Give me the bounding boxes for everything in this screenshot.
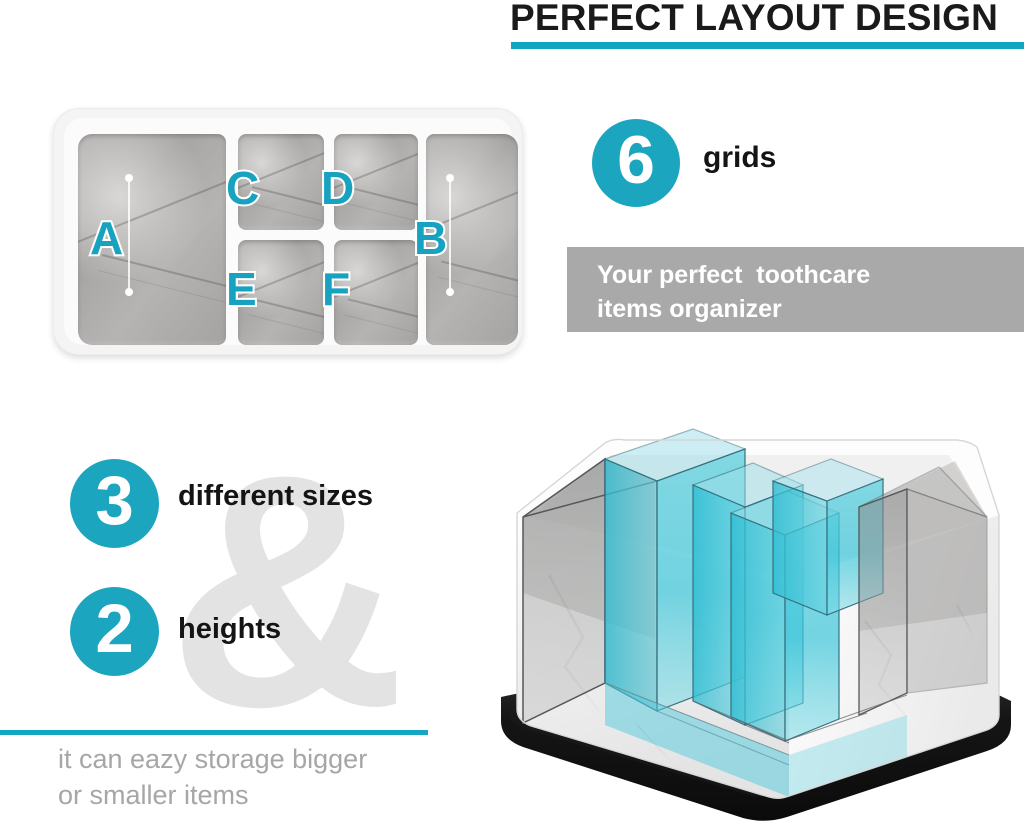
dimension-dot-top bbox=[446, 174, 454, 182]
tray-label-d: D bbox=[321, 165, 354, 211]
page-title: PERFECT LAYOUT DESIGN bbox=[510, 0, 1024, 38]
dimension-line-a bbox=[128, 178, 130, 292]
title-underline-rule bbox=[511, 42, 1024, 49]
badge-grids-count: 6 bbox=[592, 119, 680, 207]
label-different-sizes: different sizes bbox=[178, 480, 373, 513]
tray-label-f: F bbox=[322, 266, 350, 312]
badge-number: 2 bbox=[95, 594, 133, 663]
dimension-dot-bottom bbox=[446, 288, 454, 296]
label-heights: heights bbox=[178, 613, 281, 646]
tagline-text: Your perfect toothcare items organizer bbox=[597, 258, 1017, 326]
tagline-banner: Your perfect toothcare items organizer bbox=[567, 247, 1024, 332]
bottom-caption: it can eazy storage bigger or smaller it… bbox=[58, 741, 458, 813]
tray-label-c: C bbox=[226, 165, 259, 211]
label-grids: grids bbox=[703, 141, 776, 175]
badge-number: 6 bbox=[617, 126, 655, 194]
dimension-dot-top bbox=[125, 174, 133, 182]
badge-heights-count: 2 bbox=[70, 587, 159, 676]
dimension-dot-bottom bbox=[125, 288, 133, 296]
tray-diagram bbox=[53, 108, 523, 355]
caption-rule bbox=[0, 730, 428, 735]
dimension-line-b bbox=[449, 178, 451, 292]
tray-label-e: E bbox=[226, 266, 257, 312]
badge-number: 3 bbox=[95, 466, 133, 535]
overlay-compartment-right-gray bbox=[859, 467, 987, 715]
tray-label-a: A bbox=[90, 215, 123, 261]
badge-sizes-count: 3 bbox=[70, 459, 159, 548]
ampersand-decoration: & bbox=[168, 426, 406, 756]
organizer-product-photo bbox=[487, 425, 1024, 831]
organizer-illustration bbox=[487, 425, 1024, 831]
infographic-page: PERFECT LAYOUT DESIGN A B C D E F 6 grid… bbox=[0, 0, 1024, 831]
tray-label-b: B bbox=[414, 215, 447, 261]
